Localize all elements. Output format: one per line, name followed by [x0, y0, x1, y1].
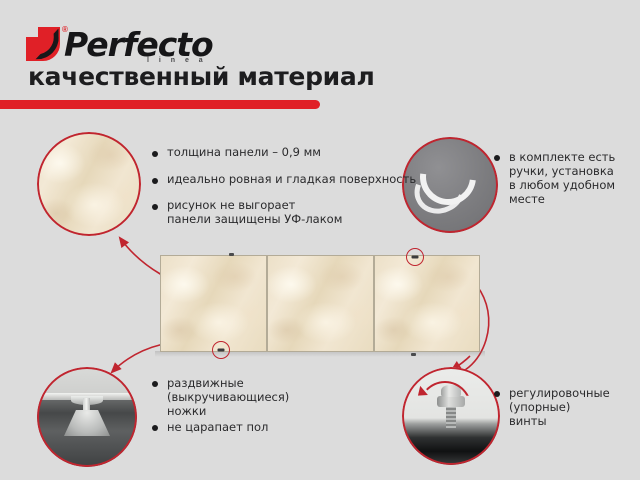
list-item-label: идеально ровная и гладкая поверхность	[167, 173, 416, 187]
list-item: в комплекте есть ручки, установка в любо…	[494, 150, 615, 206]
list-item: толщина панели – 0,9 мм	[152, 146, 416, 160]
callout-surface-texture	[37, 132, 141, 236]
list-item-label: в комплекте есть ручки, установка в любо…	[509, 150, 615, 206]
callout-handles	[402, 137, 498, 233]
list-item-label: регулировочные (упорные) винты	[509, 386, 610, 428]
list-item: раздвижные (выкручивающиеся) ножки	[152, 376, 289, 418]
bullet-dot-icon	[494, 155, 500, 161]
brand-wordmark: ® Perfecto l i n e a	[64, 28, 213, 61]
list-item: регулировочные (упорные) винты	[494, 386, 610, 428]
title-underline-rule	[0, 100, 320, 109]
brand-logo: ® Perfecto l i n e a	[26, 27, 213, 61]
adjusting-screw-icon	[402, 367, 500, 465]
list-item-label: раздвижные (выкручивающиеся) ножки	[167, 376, 289, 418]
list-item-label: рисунок не выгорает панели защищены УФ-л…	[167, 199, 342, 226]
stone-texture-icon	[37, 132, 141, 236]
list-item-label: толщина панели – 0,9 мм	[167, 146, 321, 160]
list-item: идеально ровная и гладкая поверхность	[152, 173, 416, 187]
bullets-surface: толщина панели – 0,9 ммидеально ровная и…	[152, 146, 416, 239]
bullet-dot-icon	[152, 425, 158, 431]
slide-canvas: ® Perfecto l i n e a качественный матери…	[0, 0, 640, 480]
bullets-screw: регулировочные (упорные) винты	[494, 386, 610, 441]
list-item: рисунок не выгорает панели защищены УФ-л…	[152, 199, 416, 226]
bullet-dot-icon	[152, 151, 158, 157]
list-item: не царапает пол	[152, 420, 289, 434]
bullet-dot-icon	[152, 381, 158, 387]
bullet-dot-icon	[152, 204, 158, 210]
callout-adjusting-screw	[402, 367, 500, 465]
perfecto-logo-icon	[26, 27, 60, 61]
bullet-dot-icon	[494, 391, 500, 397]
panel-segment	[160, 255, 267, 352]
list-item-label: не царапает пол	[167, 420, 268, 434]
marker-foot-location	[212, 341, 230, 359]
panel-segment	[267, 255, 374, 352]
page-title: качественный материал	[28, 62, 374, 91]
marker-screw-location	[406, 248, 424, 266]
registered-trademark-icon: ®	[62, 26, 68, 34]
callout-adjustable-foot	[37, 367, 137, 467]
bath-screen-panel	[160, 255, 480, 352]
panel-foot-dot-right	[411, 353, 416, 356]
bullets-handles: в комплекте есть ручки, установка в любо…	[494, 150, 615, 219]
bullet-dot-icon	[152, 178, 158, 184]
panel-top-fixing-dot	[229, 253, 234, 256]
panel-segment	[374, 255, 480, 352]
bullets-foot: раздвижные (выкручивающиеся) ножкине цар…	[152, 376, 289, 436]
adjustable-foot-icon	[37, 367, 137, 467]
handles-icon	[402, 137, 498, 233]
